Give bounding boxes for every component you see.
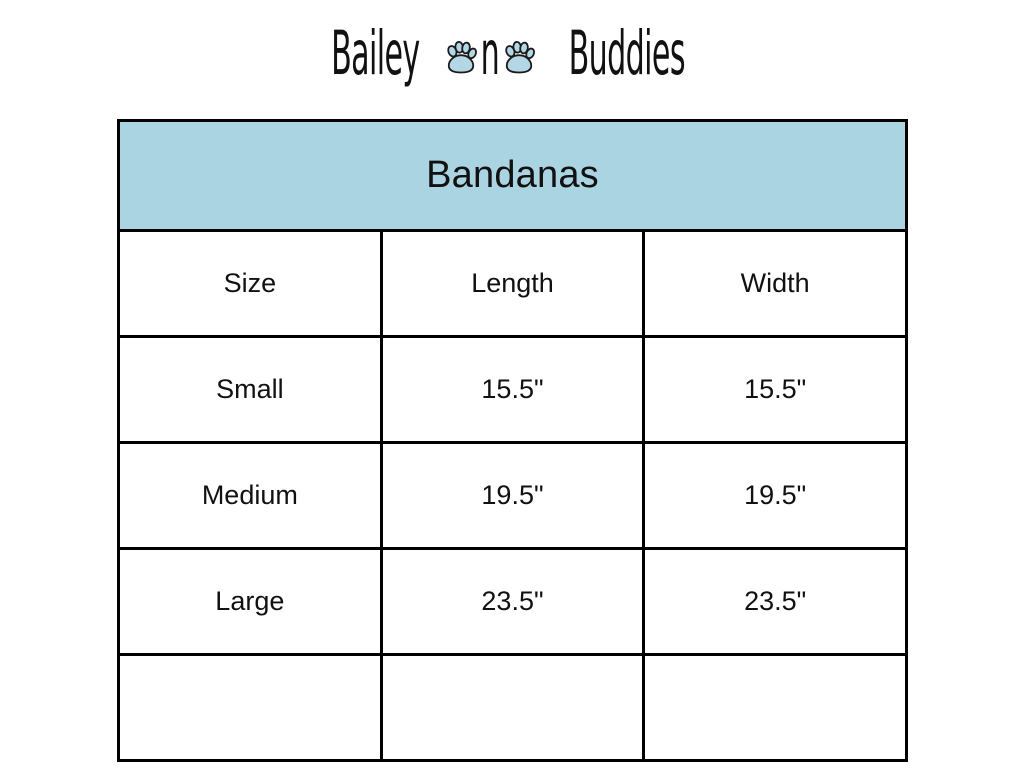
table-row-empty bbox=[119, 655, 907, 761]
table-row: Small 15.5" 15.5" bbox=[119, 337, 907, 443]
cell-size: Medium bbox=[119, 443, 382, 549]
brand-logo-row: Bailey n Buddies bbox=[304, 27, 720, 81]
table-title: Bandanas bbox=[119, 121, 907, 231]
table-header-row: Size Length Width bbox=[119, 231, 907, 337]
table-row: Medium 19.5" 19.5" bbox=[119, 443, 907, 549]
cell-width: 19.5" bbox=[644, 443, 907, 549]
size-chart-table: Bandanas Size Length Width Small 15.5" 1… bbox=[117, 119, 908, 762]
cell-size: Large bbox=[119, 549, 382, 655]
brand-name-part-2: n bbox=[480, 24, 498, 84]
column-header-width: Width bbox=[644, 231, 907, 337]
column-header-size: Size bbox=[119, 231, 382, 337]
cell-size bbox=[119, 655, 382, 761]
cell-length: 19.5" bbox=[381, 443, 644, 549]
cell-width bbox=[644, 655, 907, 761]
cell-length: 15.5" bbox=[381, 337, 644, 443]
table-row: Large 23.5" 23.5" bbox=[119, 549, 907, 655]
column-header-length: Length bbox=[381, 231, 644, 337]
paw-print-icon bbox=[443, 39, 479, 75]
cell-size: Small bbox=[119, 337, 382, 443]
cell-width: 23.5" bbox=[644, 549, 907, 655]
table-title-row: Bandanas bbox=[119, 121, 907, 231]
brand-logo: Bailey n Buddies bbox=[0, 18, 1024, 90]
brand-name-part-1: Bailey bbox=[331, 24, 420, 84]
cell-length bbox=[381, 655, 644, 761]
paw-print-icon bbox=[501, 39, 537, 75]
brand-name-part-3: Buddies bbox=[568, 24, 684, 84]
cell-length: 23.5" bbox=[381, 549, 644, 655]
cell-width: 15.5" bbox=[644, 337, 907, 443]
